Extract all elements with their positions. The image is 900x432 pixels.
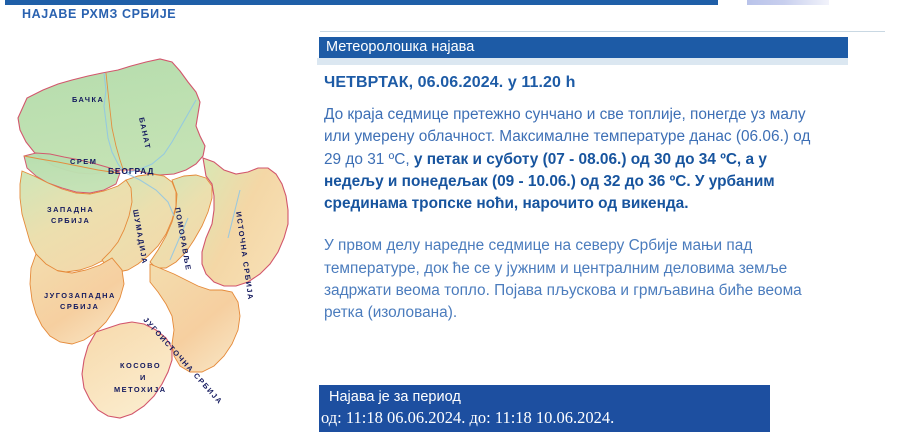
forecast-day-line: ЧЕТВРТАК, 06.06.2024. у 11.20 h xyxy=(324,74,892,92)
top-accent-bar-dark xyxy=(5,0,718,5)
map-label-srem: СРЕМ xyxy=(70,157,97,166)
validity-period-range: од: 11:18 06.06.2024. до: 11:18 10.06.20… xyxy=(319,407,770,428)
panel-title: Метеоролошка најава xyxy=(317,37,848,58)
serbia-regions-map: БАЧКА БАНАТ СРЕМ БЕОГРАД ЗАПАДНА СРБИЈА … xyxy=(0,40,312,432)
forecast-paragraph-2: У првом делу наредне седмице на северу С… xyxy=(324,235,836,324)
forecast-paragraph-1: До краја седмице претежно сунчано и све … xyxy=(324,104,822,215)
map-label-zapadna-2: СРБИЈА xyxy=(51,216,90,225)
header-divider xyxy=(320,31,885,32)
map-label-beograd: БЕОГРАД xyxy=(108,166,154,176)
panel-title-underband xyxy=(317,58,848,65)
map-label-jugozapadna: ЈУГОЗАПАДНА xyxy=(44,291,116,300)
map-label-jugozapadna-2: СРБИЈА xyxy=(60,302,99,311)
page-root: НАЈАВЕ РХМЗ СРБИЈЕ xyxy=(0,0,900,432)
map-label-i: И xyxy=(140,373,147,382)
validity-period-bar: Најава је за период од: 11:18 06.06.2024… xyxy=(317,385,770,432)
top-accent-bar-light xyxy=(747,0,829,5)
map-label-backa: БАЧКА xyxy=(72,95,104,104)
map-label-metohija: МЕТОХИЈА xyxy=(114,385,167,394)
site-title: НАЈАВЕ РХМЗ СРБИЈЕ xyxy=(22,7,176,21)
map-label-kosovo: КОСОВО xyxy=(120,361,161,370)
map-label-zapadna: ЗАПАДНА xyxy=(47,205,94,214)
validity-period-label: Најава је за период xyxy=(319,385,770,407)
forecast-panel: Метеоролошка најава ЧЕТВРТАК, 06.06.2024… xyxy=(317,37,892,325)
